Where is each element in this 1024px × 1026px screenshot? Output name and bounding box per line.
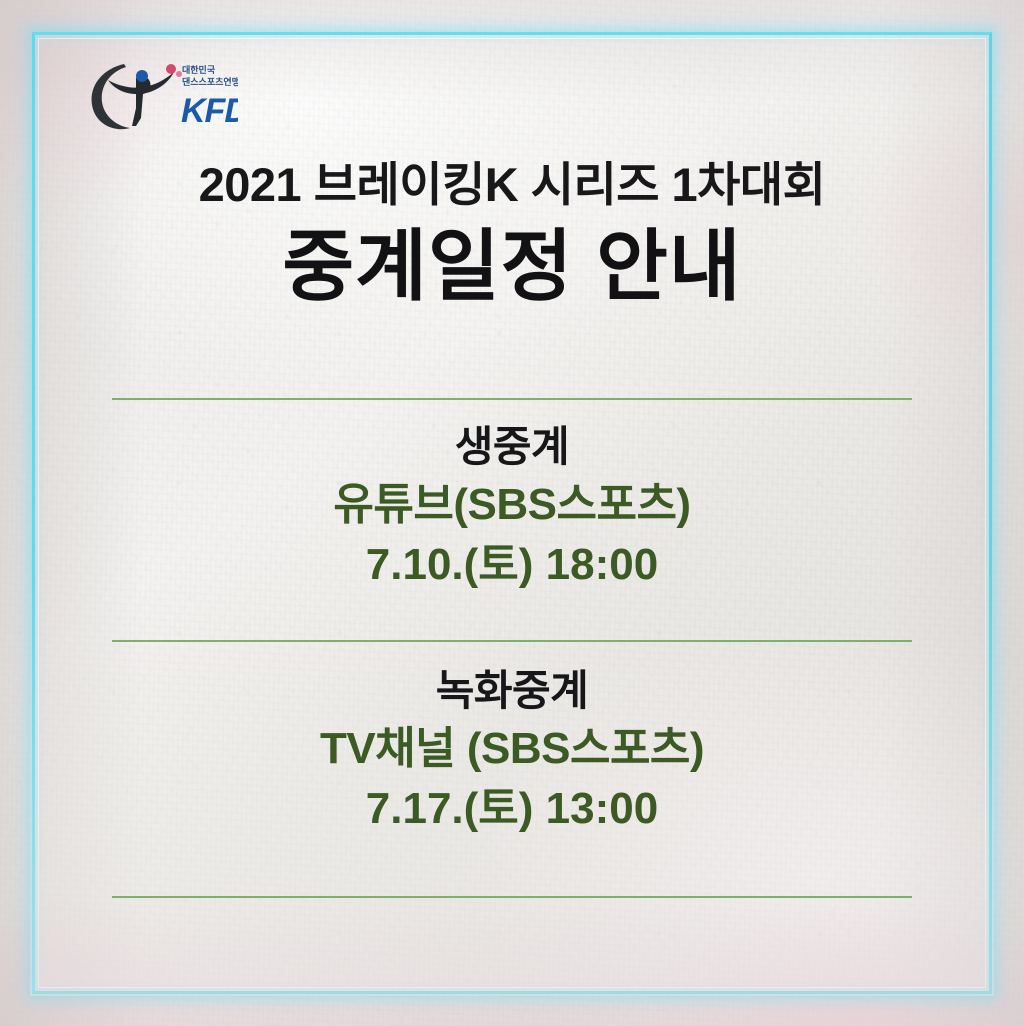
logo-crescent-icon [92,64,130,129]
schedule-heading-live: 생중계 [0,420,1024,474]
schedule-datetime-live: 7.10.(토) 18:00 [0,536,1024,594]
logo-org-name-top: 대한민국 [182,64,216,75]
schedule-block-recorded: 녹화중계 TV채널 (SBS스포츠) 7.17.(토) 13:00 [0,664,1024,838]
logo-org-name-bottom: 댄스스포츠연맹 [182,76,238,87]
logo-acronym: KFD [181,92,238,130]
kfd-logo: 대한민국 댄스스포츠연맹 KFD [78,56,238,132]
schedule-channel-recorded: TV채널 (SBS스포츠) [0,718,1024,780]
divider-bottom [112,896,912,898]
page-title-line1: 2021 브레이킹K 시리즈 1차대회 [0,156,1024,214]
schedule-datetime-recorded: 7.17.(토) 13:00 [0,780,1024,838]
divider-middle [112,640,912,642]
logo-accent-dot-icon [166,64,176,74]
schedule-block-live: 생중계 유튜브(SBS스포츠) 7.10.(토) 18:00 [0,420,1024,594]
page-title-line2: 중계일정 안내 [0,218,1024,314]
schedule-channel-live: 유튜브(SBS스포츠) [0,474,1024,536]
poster-content: 대한민국 댄스스포츠연맹 KFD 2021 브레이킹K 시리즈 1차대회 중계일… [0,0,1024,1026]
divider-top [112,398,912,400]
schedule-heading-recorded: 녹화중계 [0,664,1024,718]
logo-dancer-icon [108,70,174,126]
poster-canvas: 대한민국 댄스스포츠연맹 KFD 2021 브레이킹K 시리즈 1차대회 중계일… [0,0,1024,1026]
